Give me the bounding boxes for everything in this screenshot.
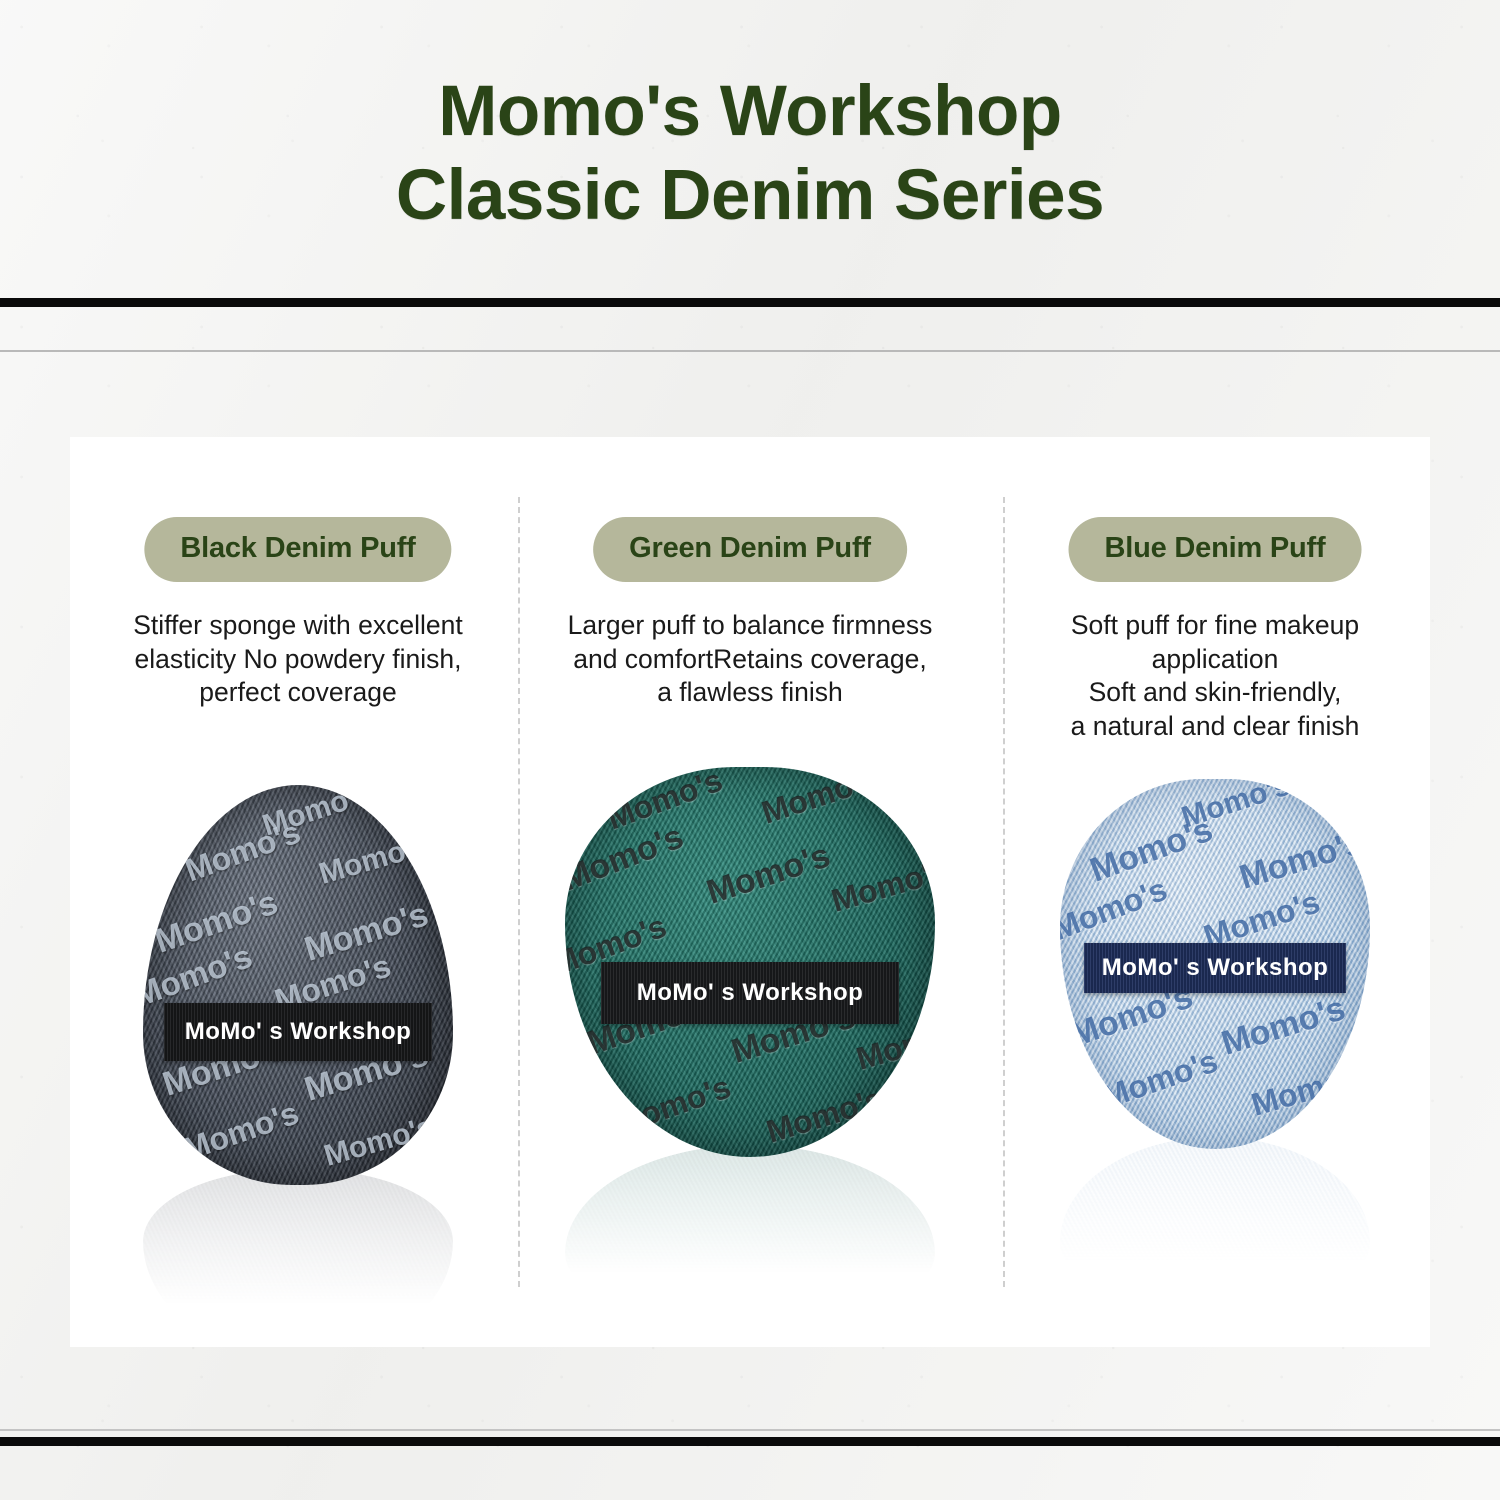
product-comparison-card: Black Denim Puff Stiffer sponge with exc… [70, 437, 1430, 1347]
puff-reflection-black [143, 1169, 453, 1359]
fabric-watermark: Momo's [757, 767, 882, 832]
product-image-black: Momo's Momo's Momo's Momo's Momo's Momo'… [78, 757, 518, 1317]
fabric-watermark: Momo's [565, 818, 689, 900]
product-column-blue: Blue Denim Puff Soft puff for fine makeu… [995, 437, 1435, 1347]
fabric-watermark: Momo's [1085, 810, 1218, 890]
fabric-watermark: Momo's [300, 895, 433, 969]
product-image-blue: Momo's Momo's Momo's Momo's Momo's Momo'… [995, 757, 1435, 1317]
fabric-watermark: Momo's [258, 785, 375, 843]
puff-reflection-green [565, 1145, 935, 1325]
fabric-watermark: Momo's [150, 883, 283, 961]
puff-reflection-blue [1060, 1137, 1370, 1312]
fabric-watermark: Momo's [1060, 871, 1172, 948]
denim-puff-blue: Momo's Momo's Momo's Momo's Momo's Momo'… [1060, 779, 1370, 1149]
fabric-watermark: Momo's [1097, 1043, 1222, 1117]
product-title-pill-black: Black Denim Puff [144, 517, 451, 582]
fabric-watermark: Momo's [1235, 823, 1368, 897]
denim-puff-black: Momo's Momo's Momo's Momo's Momo's Momo'… [143, 785, 453, 1185]
bottom-rule-thick [0, 1437, 1500, 1446]
fabric-watermark: Momo's [702, 836, 835, 912]
fabric-watermark: Momo's [320, 1110, 437, 1174]
header: Momo's Workshop Classic Denim Series [0, 70, 1500, 238]
top-rule-thick [0, 298, 1500, 307]
product-title-pill-blue: Blue Denim Puff [1069, 517, 1362, 582]
fabric-watermark: Momo's [602, 767, 727, 837]
fabric-watermark: Momo's [1247, 1055, 1370, 1124]
product-description-blue: Soft puff for fine makeup application So… [1005, 609, 1425, 744]
product-title-pill-green: Green Denim Puff [593, 517, 907, 582]
product-description-green: Larger puff to balance firmness and comf… [540, 609, 960, 710]
fabric-watermark: Momo's [178, 1095, 303, 1169]
product-description-black: Stiffer sponge with excellent elasticity… [88, 609, 508, 710]
fabric-watermark: Momo's [1177, 779, 1294, 835]
fabric-watermark: Momo's [610, 1069, 735, 1143]
fabric-watermark: Momo's [315, 828, 432, 892]
fabric-watermark: Momo's [827, 851, 935, 920]
brand-ribbon-green: MoMo' s Workshop [601, 962, 899, 1024]
fabric-watermark: Momo's [762, 1080, 887, 1150]
fabric-watermark: Momo's [180, 814, 305, 890]
product-column-green: Green Denim Puff Larger puff to balance … [530, 437, 970, 1347]
bottom-rule-thin [0, 1429, 1500, 1431]
brand-ribbon-black: MoMo' s Workshop [164, 1003, 432, 1061]
column-divider-1 [518, 497, 520, 1287]
product-image-green: Momo's Momo's Momo's Momo's Momo's Momo'… [530, 757, 970, 1317]
fabric-watermark: Momo's [1217, 989, 1350, 1063]
top-rule-thin [0, 350, 1500, 352]
denim-puff-green: Momo's Momo's Momo's Momo's Momo's Momo'… [565, 767, 935, 1157]
product-column-black: Black Denim Puff Stiffer sponge with exc… [78, 437, 518, 1347]
page-title: Momo's Workshop Classic Denim Series [0, 70, 1500, 238]
brand-ribbon-blue: MoMo' s Workshop [1084, 943, 1346, 993]
